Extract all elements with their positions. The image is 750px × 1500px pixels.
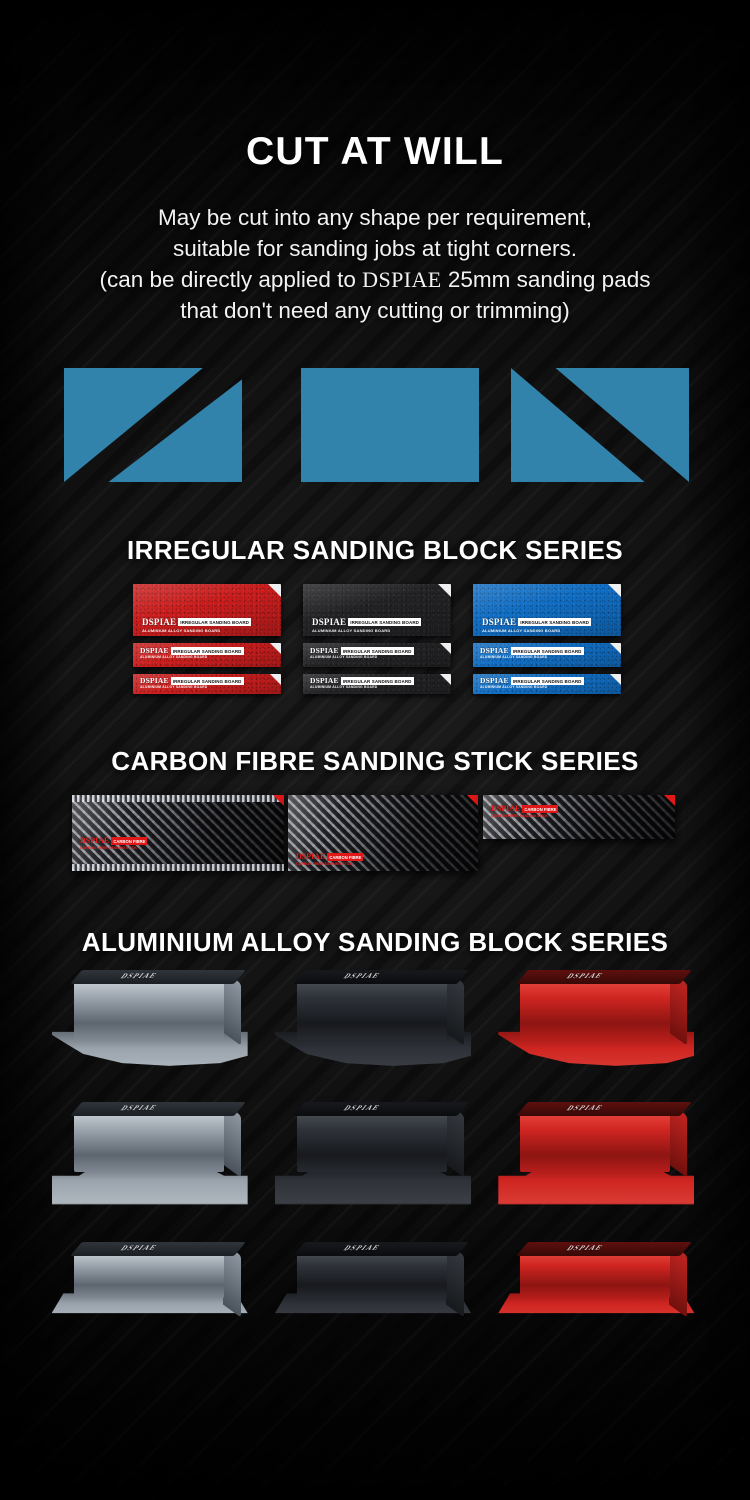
grid-item: DSPIAEIRREGULAR SANDING BOARDALUMINIUM A… xyxy=(473,674,621,694)
label-chip: IRREGULAR SANDING BOARD xyxy=(511,677,584,685)
irregular-block-grid: DSPIAEIRREGULAR SANDING BOARDALUMINIUM A… xyxy=(133,584,617,694)
label-subtext: ALUMINIUM ALLOY SANDING BOARD xyxy=(142,628,220,633)
brand-text: DSPIAE xyxy=(312,618,346,627)
corner-marker xyxy=(270,643,281,654)
description-line-4: that don't need any cutting or trimming) xyxy=(0,295,750,326)
block-body: DSPIAE xyxy=(520,980,670,1040)
corner-marker xyxy=(273,795,284,806)
alloy-block-black-low: DSPIAE xyxy=(275,1236,475,1346)
carbon-stick-wide: DSPIAECARBON FIBRECARBON FIBRE SANDING S… xyxy=(72,795,284,871)
brand-text: DSPIAE xyxy=(140,677,169,685)
block-body: DSPIAE xyxy=(297,980,447,1040)
label-subtext: ALUMINIUM ALLOY SANDING BOARD xyxy=(482,628,560,633)
product-label: DSPIAEIRREGULAR SANDING BOARDALUMINIUM A… xyxy=(480,677,584,685)
sanding-block-blue-medium: DSPIAEIRREGULAR SANDING BOARDALUMINIUM A… xyxy=(473,643,621,667)
brand-text: DSPIAE xyxy=(142,618,176,627)
block-face xyxy=(74,980,224,1040)
description-line-1: May be cut into any shape per requiremen… xyxy=(0,202,750,233)
alloy-block-red-flat: DSPIAE xyxy=(498,1104,698,1214)
product-label: DSPIAEIRREGULAR SANDING BOARDALUMINIUM A… xyxy=(480,647,584,655)
alloy-block-silver-flat: DSPIAE xyxy=(52,1104,252,1214)
alloy-block-black-arched: DSPIAE xyxy=(275,972,475,1082)
section-title-carbon: CARBON FIBRE SANDING STICK SERIES xyxy=(0,746,750,777)
pad-piece-whole xyxy=(301,368,479,482)
block-body: DSPIAE xyxy=(520,1252,670,1298)
grid-item: DSPIAEIRREGULAR SANDING BOARDALUMINIUM A… xyxy=(473,584,621,636)
alloy-block-red-low: DSPIAE xyxy=(498,1236,698,1346)
sanding-block-black-small: DSPIAEIRREGULAR SANDING BOARDALUMINIUM A… xyxy=(303,674,451,694)
brand-text: DSPIAE xyxy=(480,647,509,655)
label-chip: CARBON FIBRE xyxy=(327,853,363,861)
product-label: DSPIAEIRREGULAR SANDING BOARDALUMINIUM A… xyxy=(310,647,414,655)
label-chip: IRREGULAR SANDING BOARD xyxy=(341,677,414,685)
block-body: DSPIAE xyxy=(74,1252,224,1298)
sanding-block-blue-small: DSPIAEIRREGULAR SANDING BOARDALUMINIUM A… xyxy=(473,674,621,694)
sanding-block-red-large: DSPIAEIRREGULAR SANDING BOARDALUMINIUM A… xyxy=(133,584,281,636)
alloy-block-red-arched: DSPIAE xyxy=(498,972,698,1082)
label-chip: CARBON FIBRE xyxy=(111,837,147,845)
gloss-overlay xyxy=(72,795,284,871)
grid-item: DSPIAEIRREGULAR SANDING BOARDALUMINIUM A… xyxy=(133,584,281,636)
brand-text: DSPIAE xyxy=(118,1104,159,1113)
brand-text: DSPIAE xyxy=(296,853,325,861)
corner-marker xyxy=(268,584,281,597)
product-feature-page: CUT AT WILL May be cut into any shape pe… xyxy=(0,0,750,1500)
product-label: DSPIAECARBON FIBRECARBON FIBRE SANDING S… xyxy=(491,805,558,813)
brand-text: DSPIAE xyxy=(491,805,520,813)
block-face xyxy=(297,980,447,1040)
product-label: DSPIAEIRREGULAR SANDING BOARDALUMINIUM A… xyxy=(140,677,244,685)
brand-text: DSPIAE xyxy=(482,618,516,627)
block-body: DSPIAE xyxy=(520,1112,670,1172)
page-title: CUT AT WILL xyxy=(0,0,750,174)
corner-marker xyxy=(664,795,675,806)
corner-marker xyxy=(270,674,281,685)
block-face xyxy=(520,980,670,1040)
product-label: DSPIAEIRREGULAR SANDING BOARDALUMINIUM A… xyxy=(142,618,251,627)
block-face xyxy=(297,1252,447,1298)
label-chip: IRREGULAR SANDING BOARD xyxy=(178,618,251,626)
brand-text: DSPIAE xyxy=(310,647,339,655)
brand-text: DSPIAE xyxy=(341,1104,382,1113)
grid-item: DSPIAEIRREGULAR SANDING BOARDALUMINIUM A… xyxy=(473,643,621,667)
edge-rim-bottom xyxy=(72,864,284,871)
product-label: DSPIAEIRREGULAR SANDING BOARDALUMINIUM A… xyxy=(310,677,414,685)
corner-marker xyxy=(610,674,621,685)
grid-item: DSPIAEIRREGULAR SANDING BOARDALUMINIUM A… xyxy=(303,643,451,667)
block-face xyxy=(74,1112,224,1172)
label-chip: IRREGULAR SANDING BOARD xyxy=(348,618,421,626)
label-chip: CARBON FIBRE xyxy=(522,805,558,813)
label-subtext: CARBON FIBRE SANDING STICK xyxy=(491,814,548,819)
label-chip: IRREGULAR SANDING BOARD xyxy=(171,677,244,685)
carbon-stick-medium: DSPIAECARBON FIBRECARBON FIBRE SANDING S… xyxy=(288,795,478,871)
description-line-3-pre: (can be directly applied to xyxy=(100,267,363,292)
block-body: DSPIAE xyxy=(74,1112,224,1172)
label-chip: IRREGULAR SANDING BOARD xyxy=(518,618,591,626)
corner-marker xyxy=(610,643,621,654)
brand-name-inline: DSPIAE xyxy=(362,267,441,292)
alloy-block-silver-arched: DSPIAE xyxy=(52,972,252,1082)
label-chip: IRREGULAR SANDING BOARD xyxy=(511,647,584,655)
section-title-aluminium: ALUMINIUM ALLOY SANDING BLOCK SERIES xyxy=(0,927,750,958)
sanding-block-blue-large: DSPIAEIRREGULAR SANDING BOARDALUMINIUM A… xyxy=(473,584,621,636)
label-subtext: ALUMINIUM ALLOY SANDING BOARD xyxy=(480,655,547,660)
corner-marker xyxy=(440,674,451,685)
block-face xyxy=(297,1112,447,1172)
label-chip: IRREGULAR SANDING BOARD xyxy=(171,647,244,655)
label-chip: IRREGULAR SANDING BOARD xyxy=(341,647,414,655)
product-label: DSPIAEIRREGULAR SANDING BOARDALUMINIUM A… xyxy=(140,647,244,655)
pad-uncut-square xyxy=(301,368,479,482)
sanding-pad-examples xyxy=(0,348,750,483)
corner-marker xyxy=(608,584,621,597)
sanding-block-red-small: DSPIAEIRREGULAR SANDING BOARDALUMINIUM A… xyxy=(133,674,281,694)
sanding-block-red-medium: DSPIAEIRREGULAR SANDING BOARDALUMINIUM A… xyxy=(133,643,281,667)
block-face xyxy=(520,1252,670,1298)
grid-item: DSPIAEIRREGULAR SANDING BOARDALUMINIUM A… xyxy=(133,643,281,667)
sanding-block-black-large: DSPIAEIRREGULAR SANDING BOARDALUMINIUM A… xyxy=(303,584,451,636)
description-text: May be cut into any shape per requiremen… xyxy=(0,174,750,326)
corner-marker xyxy=(440,643,451,654)
brand-text: DSPIAE xyxy=(310,677,339,685)
brand-text: DSPIAE xyxy=(341,972,382,981)
corner-marker xyxy=(438,584,451,597)
block-face xyxy=(520,1112,670,1172)
description-line-2: suitable for sanding jobs at tight corne… xyxy=(0,233,750,264)
product-label: DSPIAECARBON FIBRECARBON FIBRE SANDING S… xyxy=(296,853,363,861)
brand-text: DSPIAE xyxy=(80,837,109,845)
label-subtext: CARBON FIBRE SANDING STICK xyxy=(296,862,353,867)
section-title-irregular: IRREGULAR SANDING BLOCK SERIES xyxy=(0,535,750,566)
brand-text: DSPIAE xyxy=(118,1244,159,1253)
label-subtext: ALUMINIUM ALLOY SANDING BOARD xyxy=(140,655,207,660)
grid-item: DSPIAEIRREGULAR SANDING BOARDALUMINIUM A… xyxy=(133,674,281,694)
aluminium-block-grid: DSPIAE DSPIAE DSPIAE DSPIAE DSPIAE xyxy=(40,972,710,1346)
alloy-block-black-flat: DSPIAE xyxy=(275,1104,475,1214)
pad-diagonal-cut-left xyxy=(64,368,242,482)
product-label: DSPIAEIRREGULAR SANDING BOARDALUMINIUM A… xyxy=(312,618,421,627)
brand-text: DSPIAE xyxy=(341,1244,382,1253)
carbon-stick-thin: DSPIAECARBON FIBRECARBON FIBRE SANDING S… xyxy=(483,795,675,839)
description-line-3-post: 25mm sanding pads xyxy=(442,267,651,292)
label-subtext: CARBON FIBRE SANDING STICK xyxy=(80,846,137,851)
brand-text: DSPIAE xyxy=(480,677,509,685)
block-body: DSPIAE xyxy=(297,1112,447,1172)
label-subtext: ALUMINIUM ALLOY SANDING BOARD xyxy=(312,628,390,633)
label-subtext: ALUMINIUM ALLOY SANDING BOARD xyxy=(310,685,377,690)
grid-item: DSPIAEIRREGULAR SANDING BOARDALUMINIUM A… xyxy=(303,584,451,636)
sanding-block-black-medium: DSPIAEIRREGULAR SANDING BOARDALUMINIUM A… xyxy=(303,643,451,667)
edge-rim-top xyxy=(72,795,284,802)
block-body: DSPIAE xyxy=(297,1252,447,1298)
brand-text: DSPIAE xyxy=(118,972,159,981)
label-subtext: ALUMINIUM ALLOY SANDING BOARD xyxy=(480,685,547,690)
block-body: DSPIAE xyxy=(74,980,224,1040)
brand-text: DSPIAE xyxy=(140,647,169,655)
label-subtext: ALUMINIUM ALLOY SANDING BOARD xyxy=(310,655,377,660)
corner-marker xyxy=(467,795,478,806)
alloy-block-silver-low: DSPIAE xyxy=(52,1236,252,1346)
description-line-3: (can be directly applied to DSPIAE 25mm … xyxy=(0,264,750,295)
block-face xyxy=(74,1252,224,1298)
grid-item: DSPIAEIRREGULAR SANDING BOARDALUMINIUM A… xyxy=(303,674,451,694)
carbon-stick-group: DSPIAECARBON FIBRECARBON FIBRE SANDING S… xyxy=(0,791,750,879)
label-subtext: ALUMINIUM ALLOY SANDING BOARD xyxy=(140,685,207,690)
product-label: DSPIAEIRREGULAR SANDING BOARDALUMINIUM A… xyxy=(482,618,591,627)
pad-diagonal-cut-right xyxy=(511,368,689,482)
product-label: DSPIAECARBON FIBRECARBON FIBRE SANDING S… xyxy=(80,837,147,845)
